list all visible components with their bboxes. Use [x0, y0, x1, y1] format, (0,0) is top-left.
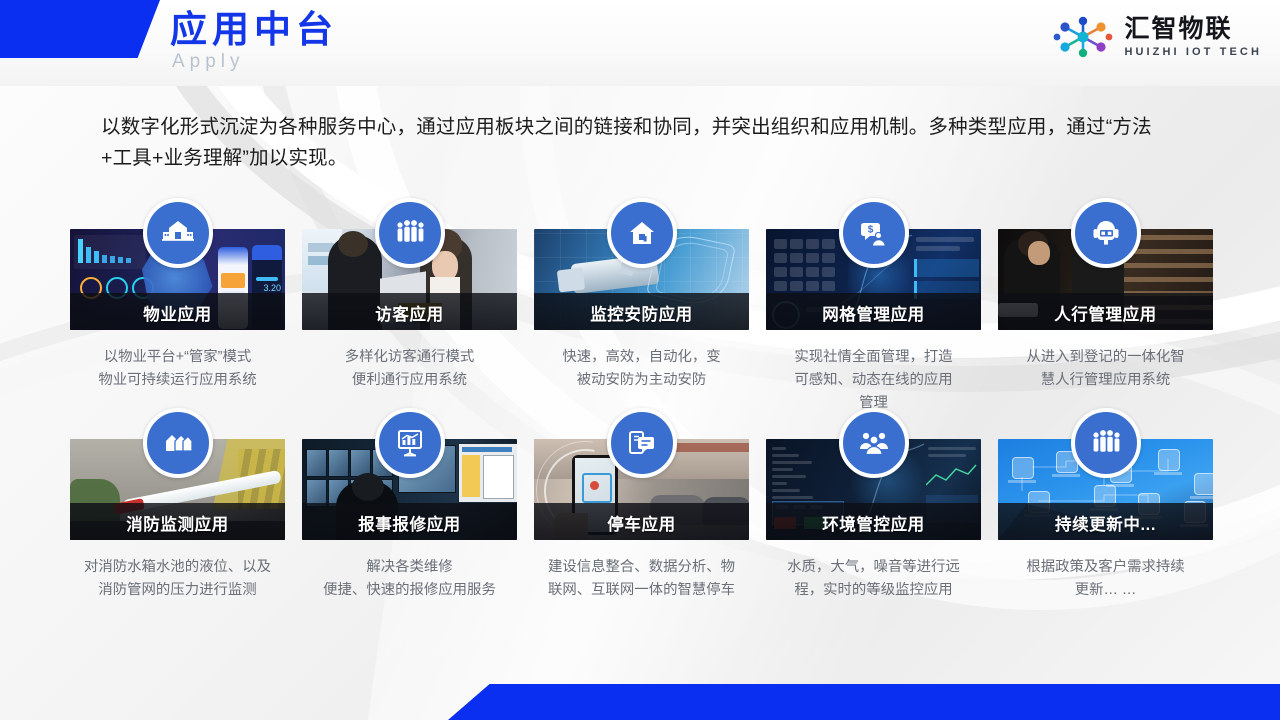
application-card[interactable]: 3.20物业应用以物业平台+“管家”模式 物业可持续运行应用系统: [70, 229, 285, 415]
card-description: 水质，大气，噪音等进行远 程，实时的等级监控应用: [766, 556, 981, 602]
card-title: 监控安防应用: [534, 301, 749, 325]
application-card[interactable]: 消防监测应用对消防水箱水池的液位、以及 消防管网的压力进行监测: [70, 439, 285, 602]
footer-area: [0, 684, 1280, 720]
warehouse-icon[interactable]: [143, 408, 213, 478]
intro-paragraph: 以数字化形式沉淀为各种服务中心，通过应用板块之间的链接和协同，并突出组织和应用机…: [101, 112, 1171, 174]
card-title: 访客应用: [302, 301, 517, 325]
logo-name-cn: 汇智物联: [1124, 17, 1262, 42]
card-title: 物业应用: [70, 301, 285, 325]
company-logo: 汇智物联 HUIZHI IOT TECH: [1052, 14, 1262, 60]
people-group-icon[interactable]: [1071, 408, 1141, 478]
face-recognition-icon[interactable]: [1071, 198, 1141, 268]
application-card[interactable]: 停车应用建设信息整合、数据分析、物 联网、互联网一体的智慧停车: [534, 439, 749, 602]
card-title: 环境管控应用: [766, 511, 981, 535]
application-card[interactable]: 监控安防应用快速，高效，自动化，变 被动安防为主动安防: [534, 229, 749, 415]
card-title: 网格管理应用: [766, 301, 981, 325]
application-card[interactable]: 环境管控应用水质，大气，噪音等进行远 程，实时的等级监控应用: [766, 439, 981, 602]
application-card[interactable]: 报事报修应用解决各类维修 便捷、快速的报修应用服务: [302, 439, 517, 602]
application-card[interactable]: 持续更新中...根据政策及客户需求持续 更新… …: [998, 439, 1213, 602]
card-title: 持续更新中...: [998, 511, 1213, 535]
card-description: 根据政策及客户需求持续 更新… …: [998, 556, 1213, 602]
people-group-icon[interactable]: [375, 198, 445, 268]
application-card[interactable]: 人行管理应用从进入到登记的一体化智 慧人行管理应用系统: [998, 229, 1213, 415]
home-shield-icon[interactable]: [607, 198, 677, 268]
footer-accent-shape: [448, 684, 1280, 720]
payment-person-icon[interactable]: $: [839, 198, 909, 268]
card-description: 从进入到登记的一体化智 慧人行管理应用系统: [998, 346, 1213, 392]
house-fence-icon[interactable]: [143, 198, 213, 268]
page-subtitle: Apply: [172, 50, 245, 74]
logo-mark-icon: [1052, 14, 1114, 60]
mobile-message-icon[interactable]: [607, 408, 677, 478]
card-description: 建设信息整合、数据分析、物 联网、互联网一体的智慧停车: [534, 556, 749, 602]
svg-text:$: $: [867, 225, 873, 236]
card-title: 停车应用: [534, 511, 749, 535]
card-title: 消防监测应用: [70, 511, 285, 535]
card-description: 解决各类维修 便捷、快速的报修应用服务: [302, 556, 517, 602]
application-card[interactable]: 访客应用多样化访客通行模式 便利通行应用系统: [302, 229, 517, 415]
header-accent-shape: [0, 0, 160, 58]
logo-name-en: HUIZHI IOT TECH: [1124, 47, 1262, 58]
card-title: 报事报修应用: [302, 511, 517, 535]
card-row-1: 3.20物业应用以物业平台+“管家”模式 物业可持续运行应用系统 访客应用多样化…: [70, 229, 1215, 415]
card-description: 多样化访客通行模式 便利通行应用系统: [302, 346, 517, 392]
card-description: 以物业平台+“管家”模式 物业可持续运行应用系统: [70, 346, 285, 392]
chart-board-icon[interactable]: [375, 408, 445, 478]
card-description: 对消防水箱水池的液位、以及 消防管网的压力进行监测: [70, 556, 285, 602]
application-grid: 3.20物业应用以物业平台+“管家”模式 物业可持续运行应用系统 访客应用多样化…: [70, 229, 1215, 602]
application-card[interactable]: $ 网格管理应用实现社情全面管理，打造 可感知、动态在线的应用 管理: [766, 229, 981, 415]
users-three-icon[interactable]: [839, 408, 909, 478]
header-bar: 应用中台 Apply 汇智物联 HU: [0, 0, 1280, 86]
card-row-2: 消防监测应用对消防水箱水池的液位、以及 消防管网的压力进行监测 报事报修应用解决…: [70, 439, 1215, 602]
card-title: 人行管理应用: [998, 301, 1213, 325]
slide-canvas: 应用中台 Apply 汇智物联 HU: [0, 0, 1280, 720]
card-description: 快速，高效，自动化，变 被动安防为主动安防: [534, 346, 749, 392]
page-title: 应用中台: [170, 8, 338, 52]
card-description: 实现社情全面管理，打造 可感知、动态在线的应用 管理: [766, 346, 981, 415]
